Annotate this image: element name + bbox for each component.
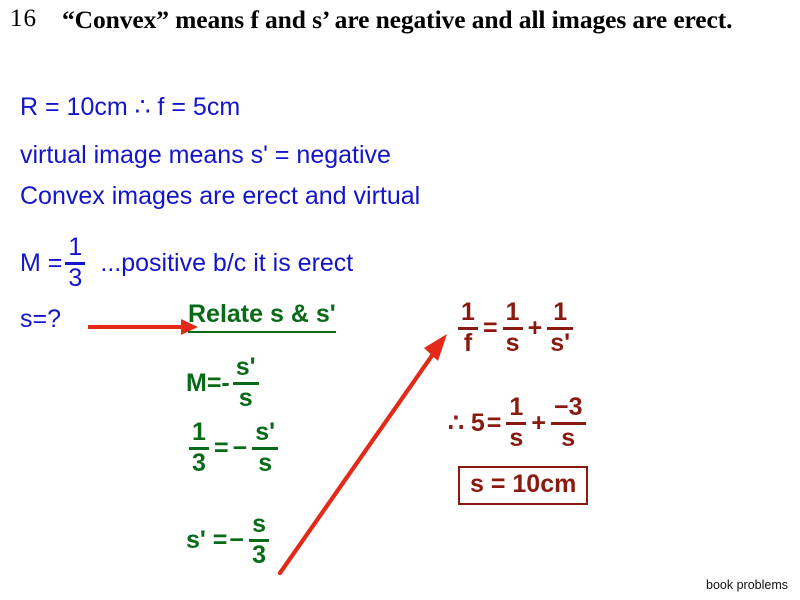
relate-equation-1: M=- s' s <box>186 355 262 412</box>
substituted-therefore: ∴ 5 <box>448 408 485 438</box>
lens-eq-plus: + <box>526 314 545 343</box>
relate-equation-2: 1 3 = − s' s <box>186 420 281 477</box>
relate-eq2-right-denominator: s <box>255 451 275 477</box>
given-line-radius-focal: R = 10cm ∴ f = 5cm <box>20 92 240 122</box>
substituted-first-denominator: s <box>506 426 526 452</box>
s-unknown-to-relate-arrow <box>88 312 198 342</box>
unknown-label: s=? <box>20 305 61 334</box>
magnification-denominator: 3 <box>65 266 85 292</box>
magnification-lhs: M = <box>20 249 62 278</box>
substituted-second-denominator: s <box>558 426 578 452</box>
relate-eq2-left-denominator: 3 <box>189 451 209 477</box>
relate-eq3-fraction: s 3 <box>249 512 269 569</box>
relate-heading: Relate s & s' <box>188 300 336 333</box>
lens-eq-sprime-numerator: 1 <box>550 300 570 326</box>
lens-eq-s-denominator: s <box>503 331 523 357</box>
substituted-equals: = <box>485 409 504 438</box>
relate-eq2-left-numerator: 1 <box>189 420 209 446</box>
relate-eq2-left-fraction: 1 3 <box>189 420 209 477</box>
slide-title-block: 16 “Convex” means f and s’ are negative … <box>10 4 790 35</box>
relate-eq3-numerator: s <box>249 512 269 538</box>
lens-eq-f-numerator: 1 <box>458 300 478 326</box>
footer-note: book problems <box>706 578 788 592</box>
magnification-note: ...positive b/c it is erect <box>88 249 353 278</box>
relate-equation-3: s' = − s 3 <box>186 512 272 569</box>
magnification-equation: M = 1 3 ...positive b/c it is erect <box>20 235 353 292</box>
given-line-convex-erect: Convex images are erect and virtual <box>20 182 420 211</box>
substituted-first-numerator: 1 <box>506 395 526 421</box>
relate-eq3-denominator: 3 <box>249 543 269 569</box>
lens-equation: 1 f = 1 s + 1 s' <box>455 300 576 357</box>
substituted-equation: ∴ 5 = 1 s + −3 s <box>448 395 589 452</box>
answer-box: s = 10cm <box>458 466 588 505</box>
lens-eq-sprime-denominator: s' <box>547 331 573 357</box>
magnification-numerator: 1 <box>65 235 85 261</box>
lens-eq-s-fraction: 1 s <box>503 300 523 357</box>
substituted-first-fraction: 1 s <box>506 395 526 452</box>
slide-number: 16 <box>10 4 62 35</box>
substituted-second-numerator: −3 <box>551 395 586 421</box>
given-line-virtual-image: virtual image means s' = negative <box>20 141 391 170</box>
lens-eq-f-fraction: 1 f <box>458 300 478 357</box>
slide-canvas: 16 “Convex” means f and s’ are negative … <box>0 0 800 600</box>
page-title: “Convex” means f and s’ are negative and… <box>62 4 790 35</box>
relate-eq1-lhs: M=- <box>186 369 230 398</box>
relate-eq3-minus: − <box>227 526 246 555</box>
relate-to-lens-equation-arrow <box>275 330 455 578</box>
magnification-fraction: 1 3 <box>65 235 85 292</box>
substituted-plus: + <box>529 409 548 438</box>
lens-eq-f-denominator: f <box>461 331 475 357</box>
relate-eq2-minus: − <box>231 434 250 463</box>
relate-eq1-numerator: s' <box>233 355 259 381</box>
relate-eq1-fraction: s' s <box>233 355 259 412</box>
lens-eq-s-numerator: 1 <box>503 300 523 326</box>
relate-eq2-equals: = <box>212 434 231 463</box>
lens-eq-equals: = <box>481 314 500 343</box>
relate-eq3-lhs: s' = <box>186 526 227 555</box>
answer-text: s = 10cm <box>470 470 576 498</box>
relate-eq1-denominator: s <box>236 386 256 412</box>
substituted-second-fraction: −3 s <box>551 395 586 452</box>
lens-eq-sprime-fraction: 1 s' <box>547 300 573 357</box>
